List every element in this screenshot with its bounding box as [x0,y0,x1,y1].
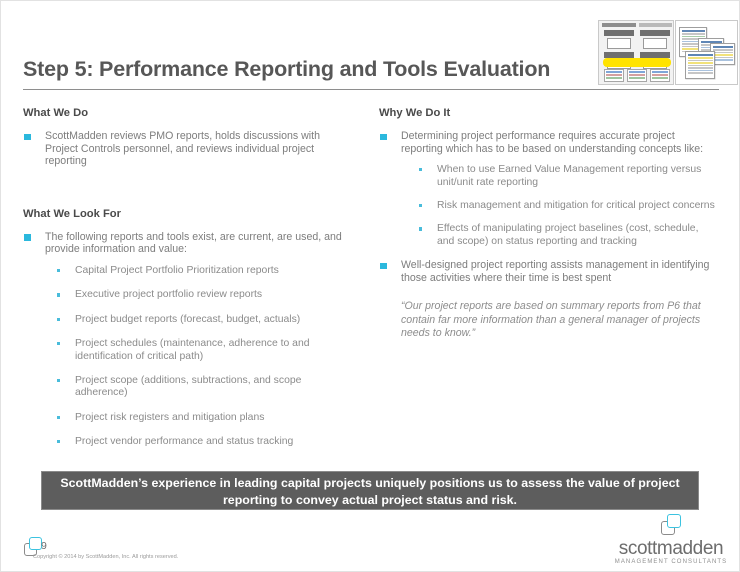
thumb-report-sheet [685,51,715,79]
list-item-text: Effects of manipulating project baseline… [437,223,698,246]
dot-bullet-icon [57,342,60,345]
framework-diagram-thumbnail [598,20,674,85]
list-item-text: Well-designed project reporting assists … [401,259,709,284]
reports-sublist: Capital Project Portfolio Prioritization… [45,265,353,449]
page-title: Step 5: Performance Reporting and Tools … [23,57,550,82]
thumbnail-label-right [639,23,672,27]
right-column: Why We Do It Determining project perform… [379,107,715,341]
list-item: Well-designed project reporting assists … [379,259,715,284]
thumb-step-box [604,30,634,36]
scottmadden-logo: scottmadden MANAGEMENT CONSULTANTS [607,513,735,565]
reports-stack-thumbnail [675,20,738,85]
thumb-step-box [640,30,670,36]
why-we-do-it-heading: Why We Do It [379,107,715,119]
dot-bullet-icon [57,318,60,321]
list-item: Capital Project Portfolio Prioritization… [45,265,353,277]
dot-bullet-icon [419,204,422,207]
list-item-text: Executive project portfolio review repor… [75,289,262,300]
list-item: Project budget reports (forecast, budget… [45,314,353,326]
title-divider [23,89,719,90]
square-bullet-icon [24,234,31,241]
list-item-text: Risk management and mitigation for criti… [437,200,715,211]
what-we-look-for-list: The following reports and tools exist, a… [23,231,353,449]
square-bullet-icon [380,134,387,141]
dot-bullet-icon [57,293,60,296]
client-quote: “Our project reports are based on summar… [401,300,715,340]
copyright-notice: Copyright © 2014 by ScottMadden, Inc. Al… [33,554,178,560]
list-item: When to use Earned Value Management repo… [401,164,715,189]
brand-logo-icon [658,513,684,537]
list-item: Effects of manipulating project baseline… [401,223,715,248]
list-item-text: Capital Project Portfolio Prioritization… [75,265,279,276]
thumb-mini-chart [650,69,670,82]
list-item-text: Project risk registers and mitigation pl… [75,412,264,423]
left-column: What We Do ScottMadden reviews PMO repor… [23,107,353,461]
list-item-text: ScottMadden reviews PMO reports, holds d… [45,130,320,167]
thumb-highlighted-step [603,58,671,67]
thumb-mini-chart [604,69,624,82]
list-item: The following reports and tools exist, a… [23,231,353,449]
dot-bullet-icon [419,168,422,171]
list-item: Project schedules (maintenance, adherenc… [45,338,353,363]
brand-name: scottmadden [607,539,735,558]
thumbnail-label-left [602,23,636,27]
list-item-text: Determining project performance requires… [401,130,703,155]
what-we-look-for-heading: What We Look For [23,208,353,220]
presentation-slide: Step 5: Performance Reporting and Tools … [0,0,740,572]
what-we-do-list: ScottMadden reviews PMO reports, holds d… [23,130,353,168]
key-message-callout: ScottMadden’s experience in leading capi… [41,471,699,510]
what-we-do-heading: What We Do [23,107,353,119]
brand-tagline: MANAGEMENT CONSULTANTS [607,559,735,565]
list-item: ScottMadden reviews PMO reports, holds d… [23,130,353,168]
page-number: 9 [41,540,47,552]
why-we-do-it-list: Determining project performance requires… [379,130,715,284]
list-item-text: Project budget reports (forecast, budget… [75,314,300,325]
list-item: Project risk registers and mitigation pl… [45,412,353,424]
dot-bullet-icon [57,379,60,382]
dot-bullet-icon [419,227,422,230]
list-item: Executive project portfolio review repor… [45,289,353,301]
square-bullet-icon [380,263,387,270]
list-item-text: Project vendor performance and status tr… [75,436,293,447]
concepts-sublist: When to use Earned Value Management repo… [401,164,715,248]
list-item: Project vendor performance and status tr… [45,436,353,448]
list-item: Determining project performance requires… [379,130,715,248]
thumb-mini-panel [643,38,667,49]
list-item-text: When to use Earned Value Management repo… [437,164,701,187]
list-item-text: Project scope (additions, subtractions, … [75,375,301,398]
list-item-text: The following reports and tools exist, a… [45,231,342,256]
list-item: Risk management and mitigation for criti… [401,200,715,212]
section-spacer [23,178,353,208]
dot-bullet-icon [57,269,60,272]
square-bullet-icon [24,134,31,141]
dot-bullet-icon [57,416,60,419]
dot-bullet-icon [57,440,60,443]
thumb-mini-panel [607,38,631,49]
thumb-mini-chart [627,69,647,82]
header-thumbnails [598,20,739,85]
list-item: Project scope (additions, subtractions, … [45,375,353,400]
list-item-text: Project schedules (maintenance, adherenc… [75,338,310,361]
